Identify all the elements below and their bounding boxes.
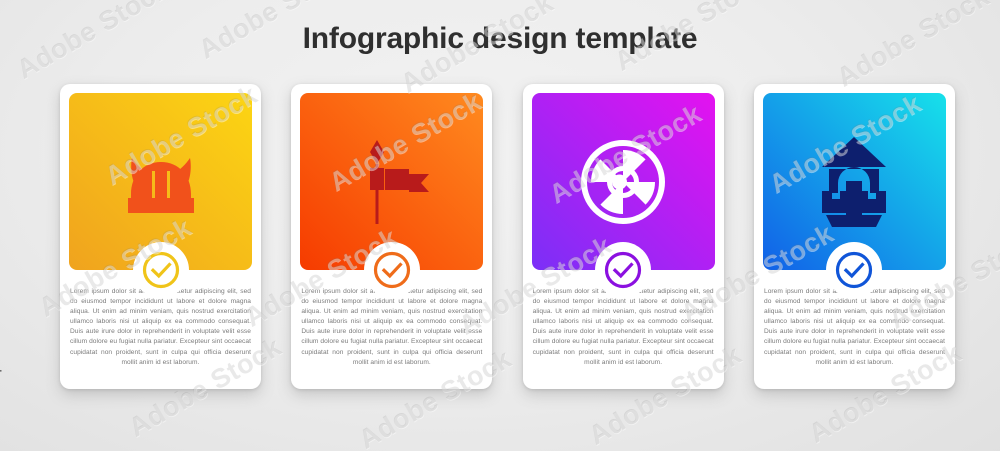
card-1-check-badge[interactable] bbox=[141, 250, 181, 290]
infographic-card-2[interactable]: Lorem ipsum dolor sit amet, consectetur … bbox=[291, 84, 492, 389]
card-2-description: Lorem ipsum dolor sit amet, consectetur … bbox=[301, 287, 482, 368]
card-4-check-badge[interactable] bbox=[834, 250, 874, 290]
card-1-description: Lorem ipsum dolor sit amet, consectetur … bbox=[70, 287, 251, 368]
page-title: Infographic design template bbox=[0, 22, 1000, 56]
card-list: Lorem ipsum dolor sit amet, consectetur … bbox=[60, 84, 955, 389]
infographic-card-1[interactable]: Lorem ipsum dolor sit amet, consectetur … bbox=[60, 84, 261, 389]
infographic-canvas: Infographic design template bbox=[0, 0, 1000, 451]
card-4-description: Lorem ipsum dolor sit amet, consectetur … bbox=[764, 287, 945, 368]
card-2-check-badge[interactable] bbox=[372, 250, 412, 290]
infographic-card-3[interactable]: Lorem ipsum dolor sit amet, consectetur … bbox=[523, 84, 724, 389]
card-3-description: Lorem ipsum dolor sit amet, consectetur … bbox=[533, 287, 714, 368]
stock-id-watermark: Adobe Stock | #483325234 bbox=[0, 303, 2, 445]
infographic-card-4[interactable]: Lorem ipsum dolor sit amet, consectetur … bbox=[754, 84, 955, 389]
card-3-check-badge[interactable] bbox=[603, 250, 643, 290]
